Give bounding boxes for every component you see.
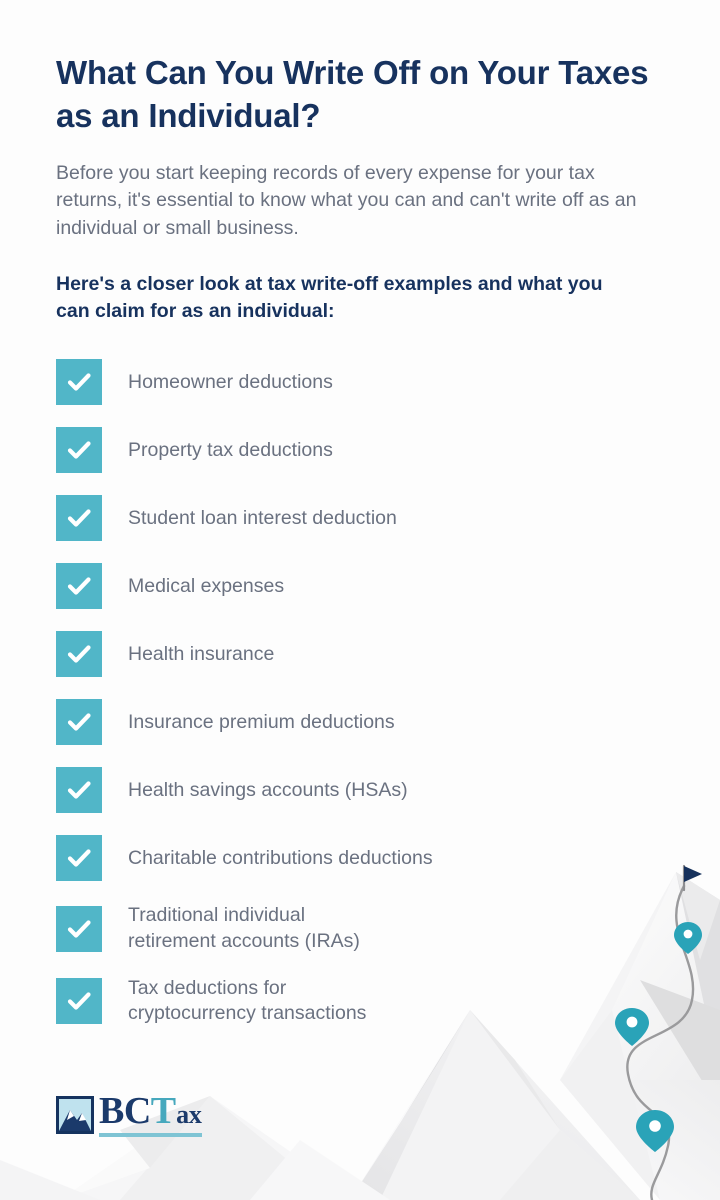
list-item[interactable]: Property tax deductions (56, 427, 664, 473)
mountain-icon (56, 1096, 94, 1134)
checkmark-icon (56, 978, 102, 1024)
checkmark-icon (56, 563, 102, 609)
tax-writeoff-checklist: Homeowner deductions Property tax deduct… (56, 359, 664, 1026)
list-item[interactable]: Health insurance (56, 631, 664, 677)
list-item[interactable]: Medical expenses (56, 563, 664, 609)
logo-underline (99, 1133, 202, 1137)
list-item[interactable]: Homeowner deductions (56, 359, 664, 405)
logo-text-t: T (151, 1092, 176, 1130)
list-item-label: Health savings accounts (HSAs) (128, 778, 408, 803)
checkmark-icon (56, 359, 102, 405)
mountain-far-right (500, 1130, 640, 1200)
checkmark-icon (56, 631, 102, 677)
page-title: What Can You Write Off on Your Taxes as … (56, 52, 664, 138)
list-item-label: Traditional individual retirement accoun… (128, 903, 360, 954)
checkmark-icon (56, 835, 102, 881)
list-item-label: Student loan interest deduction (128, 506, 397, 531)
logo-text-bc: BC (99, 1092, 151, 1130)
checkmark-icon (56, 767, 102, 813)
list-item-label: Property tax deductions (128, 438, 333, 463)
list-item-label: Health insurance (128, 642, 274, 667)
bctax-logo[interactable]: BC T ax (56, 1092, 202, 1137)
infographic-canvas: What Can You Write Off on Your Taxes as … (0, 0, 720, 1200)
map-pin-icon (636, 1110, 674, 1152)
list-item[interactable]: Student loan interest deduction (56, 495, 664, 541)
list-item-label: Insurance premium deductions (128, 710, 395, 735)
list-item-label: Medical expenses (128, 574, 284, 599)
logo-text-ax: ax (176, 1102, 201, 1128)
checkmark-icon (56, 906, 102, 952)
list-item-label: Charitable contributions deductions (128, 846, 433, 871)
checkmark-icon (56, 699, 102, 745)
content-area: What Can You Write Off on Your Taxes as … (0, 0, 720, 1027)
checkmark-icon (56, 427, 102, 473)
lead-paragraph: Here's a closer look at tax write-off ex… (56, 271, 636, 326)
list-item-label: Tax deductions for cryptocurrency transa… (128, 976, 366, 1027)
list-item[interactable]: Traditional individual retirement accoun… (56, 903, 664, 954)
list-item[interactable]: Charitable contributions deductions (56, 835, 664, 881)
logo-wordmark: BC T ax (99, 1092, 202, 1137)
list-item[interactable]: Tax deductions for cryptocurrency transa… (56, 976, 664, 1027)
intro-paragraph: Before you start keeping records of ever… (56, 160, 642, 243)
list-item[interactable]: Health savings accounts (HSAs) (56, 767, 664, 813)
checkmark-icon (56, 495, 102, 541)
list-item-label: Homeowner deductions (128, 370, 333, 395)
mountain-mid (350, 1010, 640, 1200)
list-item[interactable]: Insurance premium deductions (56, 699, 664, 745)
